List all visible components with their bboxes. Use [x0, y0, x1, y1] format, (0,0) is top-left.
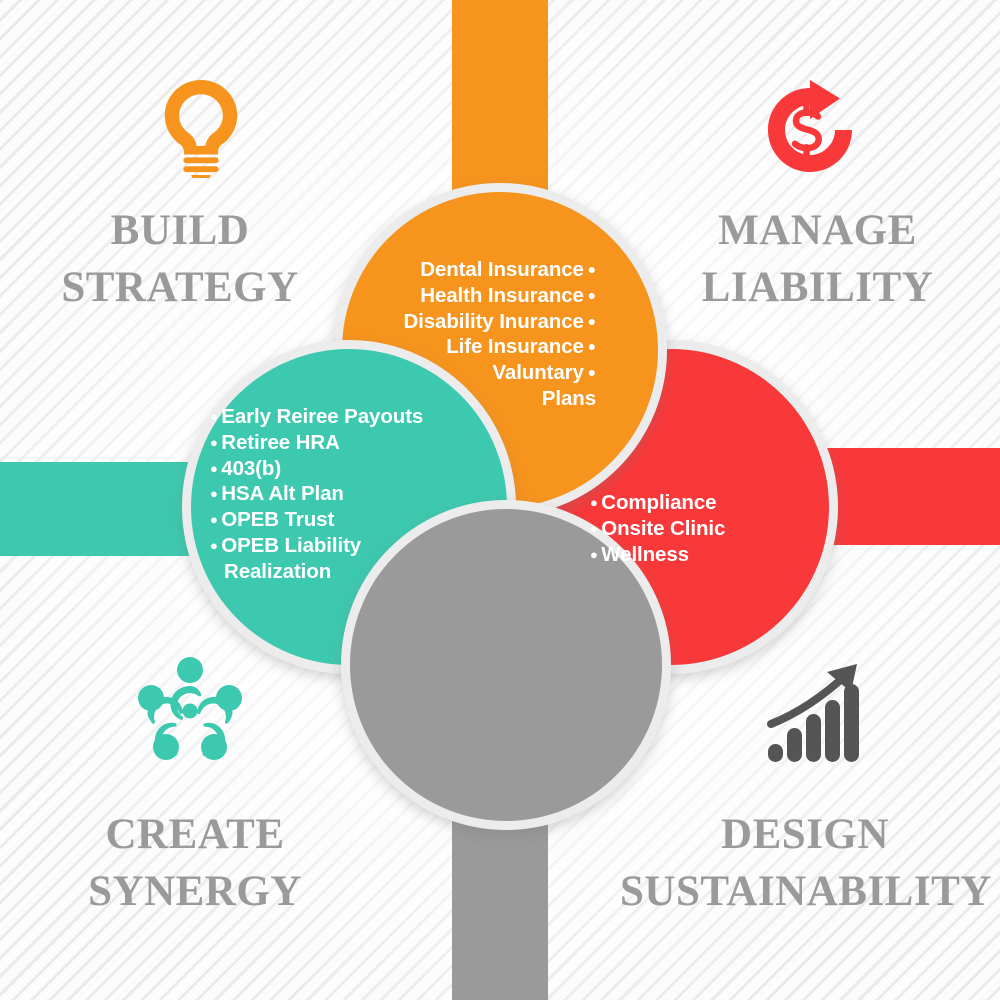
orange-circle-list: Dental Insurance Health Insurance Disabi… [360, 257, 596, 412]
list-item: HSA Alt Plan [210, 481, 450, 507]
red-circle-list: Compliance Onsite Clinic Wellness [590, 490, 800, 567]
list-item: Dental Insurance [360, 257, 596, 283]
list-item: Wellness [590, 542, 800, 568]
list-item: Health Insurance [360, 283, 596, 309]
list-item: OPEB Trust [210, 507, 450, 533]
list-item: Life Insurance [360, 334, 596, 360]
list-item: Early Reiree Payouts [210, 404, 450, 430]
list-item: Compliance [590, 490, 800, 516]
venn-diagram: Dental Insurance Health Insurance Disabi… [0, 0, 1000, 1000]
list-item: OPEB Liability Realization [210, 533, 450, 585]
list-item: Onsite Clinic [590, 516, 800, 542]
list-item: Valuntary [360, 360, 596, 386]
teal-circle-list: Early Reiree Payouts Retiree HRA 403(b) … [210, 404, 450, 585]
list-item: Retiree HRA [210, 430, 450, 456]
list-item: Disability Inurance [360, 309, 596, 335]
list-item: 403(b) [210, 456, 450, 482]
